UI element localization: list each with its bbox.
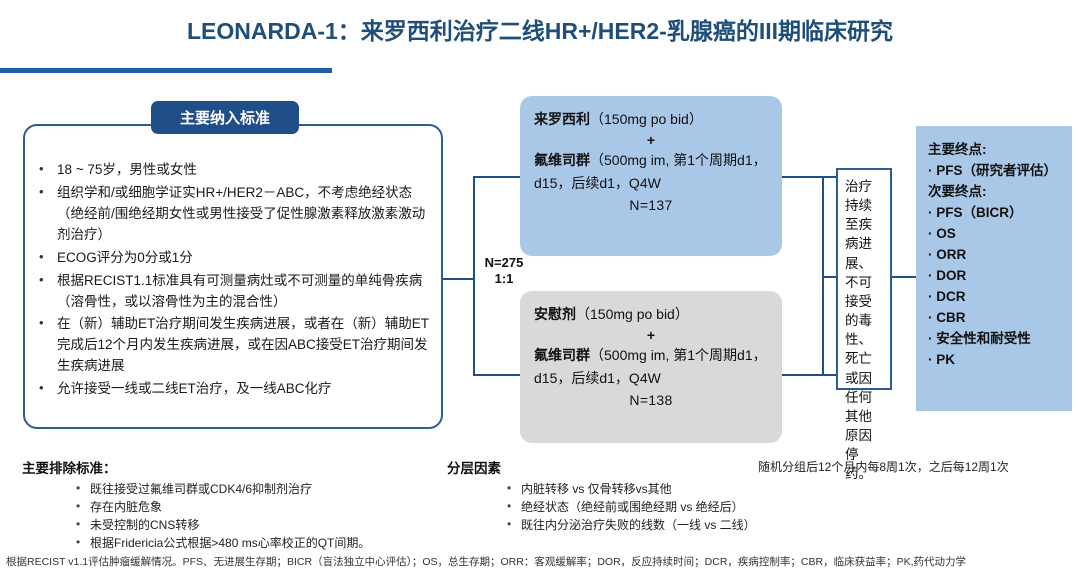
title-underline-rule xyxy=(0,68,332,73)
endpoint-item: · PK xyxy=(928,349,1062,370)
treatment-arm-control: 安慰剂（150mg po bid） + 氟维司群（500mg im, 第1个周期… xyxy=(520,291,782,443)
endpoint-label: 安全性和耐受性 xyxy=(936,331,1031,346)
connector-inclusion-to-randomization xyxy=(443,278,475,280)
inclusion-criteria-list: 18 ~ 75岁，男性或女性 组织学和/或细胞学证实HR+/HER2－ABC，不… xyxy=(35,160,435,402)
connector-experimental-to-duration xyxy=(782,176,836,178)
connector-duration-to-endpoints xyxy=(892,276,916,278)
arm-drug-dose: （150mg po bid） xyxy=(576,306,689,322)
connector-to-control-arm xyxy=(473,374,521,376)
arm-drug-name: 来罗西利 xyxy=(534,111,590,127)
list-item: 内脏转移 vs 仅骨转移vs其他 xyxy=(505,480,787,498)
randomization-ratio: 1:1 xyxy=(473,271,535,287)
arm-sample-size: N=137 xyxy=(534,194,768,217)
inclusion-criteria-header: 主要纳入标准 xyxy=(151,101,299,134)
endpoint-label: DCR xyxy=(936,289,965,304)
endpoint-item: · PFS（研究者评估） xyxy=(928,160,1062,181)
randomization-total: N=275 xyxy=(473,255,535,271)
list-item: ECOG评分为0分或1分 xyxy=(35,248,435,269)
list-item: 在（新）辅助ET治疗期间发生疾病进展，或者在（新）辅助ET完成后12个月内发生疾… xyxy=(35,314,435,377)
list-item: 允许接受一线或二线ET治疗，及一线ABC化疗 xyxy=(35,379,435,400)
exclusion-criteria-list: 既往接受过氟维司群或CDK4/6抑制剂治疗 存在内脏危象 未受控制的CNS转移 … xyxy=(74,480,442,552)
endpoint-item: · OS xyxy=(928,223,1062,244)
endpoint-item: · PFS（BICR） xyxy=(928,202,1062,223)
list-item: 绝经状态（绝经前或围绝经期 vs 绝经后） xyxy=(505,498,787,516)
arm-plus-sign: + xyxy=(534,131,768,149)
list-item: 存在内脏危象 xyxy=(74,498,442,516)
arm-drug-line-1: 安慰剂（150mg po bid） xyxy=(534,303,768,326)
randomization-label: N=275 1:1 xyxy=(473,255,535,288)
treatment-duration-box: 治疗持续至疾病进展、不可接受的毒性、死亡或因任何其他原因停药。 xyxy=(836,168,892,390)
endpoint-item: · CBR xyxy=(928,307,1062,328)
arm-partner-drug-name: 氟维司群 xyxy=(534,347,590,363)
arm-plus-sign: + xyxy=(534,326,768,344)
arm-partner-drug-name: 氟维司群 xyxy=(534,152,590,168)
endpoint-label: PFS（研究者评估） xyxy=(936,163,1057,178)
list-item: 未受控制的CNS转移 xyxy=(74,516,442,534)
arm-drug-line-2: 氟维司群（500mg im, 第1个周期d1，d15，后续d1，Q4W xyxy=(534,149,768,194)
arm-drug-dose: （150mg po bid） xyxy=(590,111,703,127)
list-item: 根据RECIST1.1标准具有可测量病灶或不可测量的单纯骨疾病（溶骨性，或以溶骨… xyxy=(35,271,435,313)
stratification-factors-list: 内脏转移 vs 仅骨转移vs其他 绝经状态（绝经前或围绝经期 vs 绝经后） 既… xyxy=(505,480,787,534)
primary-endpoint-header: 主要终点: xyxy=(928,139,1062,160)
exclusion-criteria-header: 主要排除标准： xyxy=(22,457,442,477)
footnote-abbreviations: 根据RECIST v1.1评估肿瘤缓解情况。PFS、无进展生存期；BICR（盲法… xyxy=(6,556,1078,570)
connector-control-to-duration xyxy=(782,374,836,376)
page-title: LEONARDA-1：来罗西利治疗二线HR+/HER2-乳腺癌的III期临床研究 xyxy=(0,12,1080,46)
endpoint-item: · DOR xyxy=(928,265,1062,286)
stratification-factors-block: 分层因素 内脏转移 vs 仅骨转移vs其他 绝经状态（绝经前或围绝经期 vs 绝… xyxy=(447,457,787,534)
arm-drug-name: 安慰剂 xyxy=(534,306,576,322)
connector-to-experimental-arm xyxy=(473,176,521,178)
stratification-factors-header: 分层因素 xyxy=(447,457,787,477)
endpoint-item: · DCR xyxy=(928,286,1062,307)
list-item: 18 ~ 75岁，男性或女性 xyxy=(35,160,435,181)
endpoints-box: 主要终点: · PFS（研究者评估） 次要终点: · PFS（BICR） · O… xyxy=(916,126,1072,411)
endpoint-item: · ORR xyxy=(928,244,1062,265)
assessment-schedule-note: 随机分组后12个月内每8周1次，之后每12周1次 xyxy=(758,458,1078,475)
list-item: 既往内分泌治疗失败的线数（一线 vs 二线） xyxy=(505,516,787,534)
endpoint-label: PK xyxy=(936,352,955,367)
endpoint-label: OS xyxy=(936,226,956,241)
secondary-endpoint-header: 次要终点: xyxy=(928,181,1062,202)
endpoint-label: DOR xyxy=(936,268,966,283)
list-item: 组织学和/或细胞学证实HR+/HER2－ABC，不考虑绝经状态（绝经前/围绝经期… xyxy=(35,183,435,246)
endpoint-label: CBR xyxy=(936,310,965,325)
exclusion-criteria-block: 主要排除标准： 既往接受过氟维司群或CDK4/6抑制剂治疗 存在内脏危象 未受控… xyxy=(22,457,442,552)
arm-drug-line-2: 氟维司群（500mg im, 第1个周期d1，d15，后续d1，Q4W xyxy=(534,344,768,389)
endpoint-item: · 安全性和耐受性 xyxy=(928,328,1062,349)
treatment-arm-experimental: 来罗西利（150mg po bid） + 氟维司群（500mg im, 第1个周… xyxy=(520,96,782,256)
endpoint-label: ORR xyxy=(936,247,966,262)
arm-drug-line-1: 来罗西利（150mg po bid） xyxy=(534,108,768,131)
endpoint-label: PFS（BICR） xyxy=(936,205,1022,220)
list-item: 既往接受过氟维司群或CDK4/6抑制剂治疗 xyxy=(74,480,442,498)
list-item: 根据Fridericia公式根据>480 ms心率校正的QT间期。 xyxy=(74,534,442,552)
arm-sample-size: N=138 xyxy=(534,389,768,412)
